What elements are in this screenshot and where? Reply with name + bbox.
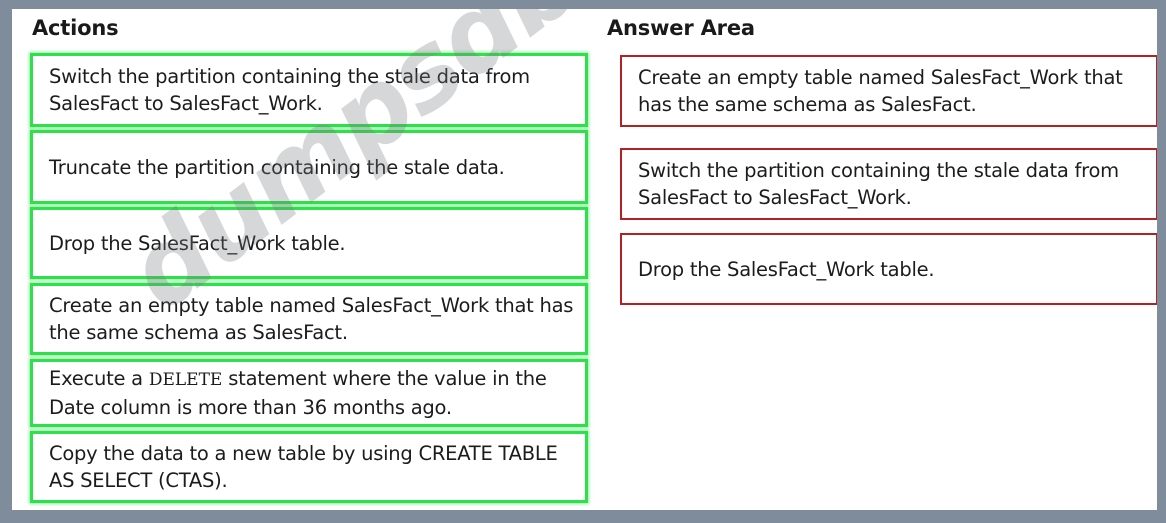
action-item-copy-ctas[interactable]: Copy the data to a new table by using CR… <box>30 431 588 503</box>
action-item-switch-partition[interactable]: Switch the partition containing the stal… <box>30 53 588 127</box>
action-item-label: Copy the data to a new table by using CR… <box>49 440 577 494</box>
action-item-execute-delete[interactable]: Execute a DELETE statement where the val… <box>30 359 588 427</box>
answer-item-switch-partition[interactable]: Switch the partition containing the stal… <box>620 148 1157 220</box>
action-item-label: Switch the partition containing the stal… <box>49 63 577 117</box>
answer-item-drop-table[interactable]: Drop the SalesFact_Work table. <box>620 233 1157 305</box>
action-item-label: Truncate the partition containing the st… <box>49 154 505 181</box>
action-item-label: Create an empty table named SalesFact_Wo… <box>49 292 577 346</box>
answer-area-heading: Answer Area <box>607 16 755 40</box>
action-item-label: Execute a DELETE statement where the val… <box>49 365 577 421</box>
action-text-before: Execute a <box>49 367 149 390</box>
answer-item-label: Switch the partition containing the stal… <box>638 157 1148 211</box>
question-page: dumpsdb.com Actions Switch the partition… <box>12 9 1157 510</box>
screenshot-root: dumpsdb.com Actions Switch the partition… <box>0 0 1166 523</box>
answer-item-label: Drop the SalesFact_Work table. <box>638 256 934 283</box>
action-item-create-empty-table[interactable]: Create an empty table named SalesFact_Wo… <box>30 283 588 355</box>
action-item-drop-table[interactable]: Drop the SalesFact_Work table. <box>30 207 588 279</box>
answer-item-label: Create an empty table named SalesFact_Wo… <box>638 64 1148 118</box>
action-item-label: Drop the SalesFact_Work table. <box>49 230 345 257</box>
sql-keyword-delete: DELETE <box>149 370 223 390</box>
actions-heading: Actions <box>32 16 118 40</box>
answer-item-create-empty-table[interactable]: Create an empty table named SalesFact_Wo… <box>620 55 1157 127</box>
action-item-truncate-partition[interactable]: Truncate the partition containing the st… <box>30 130 588 204</box>
